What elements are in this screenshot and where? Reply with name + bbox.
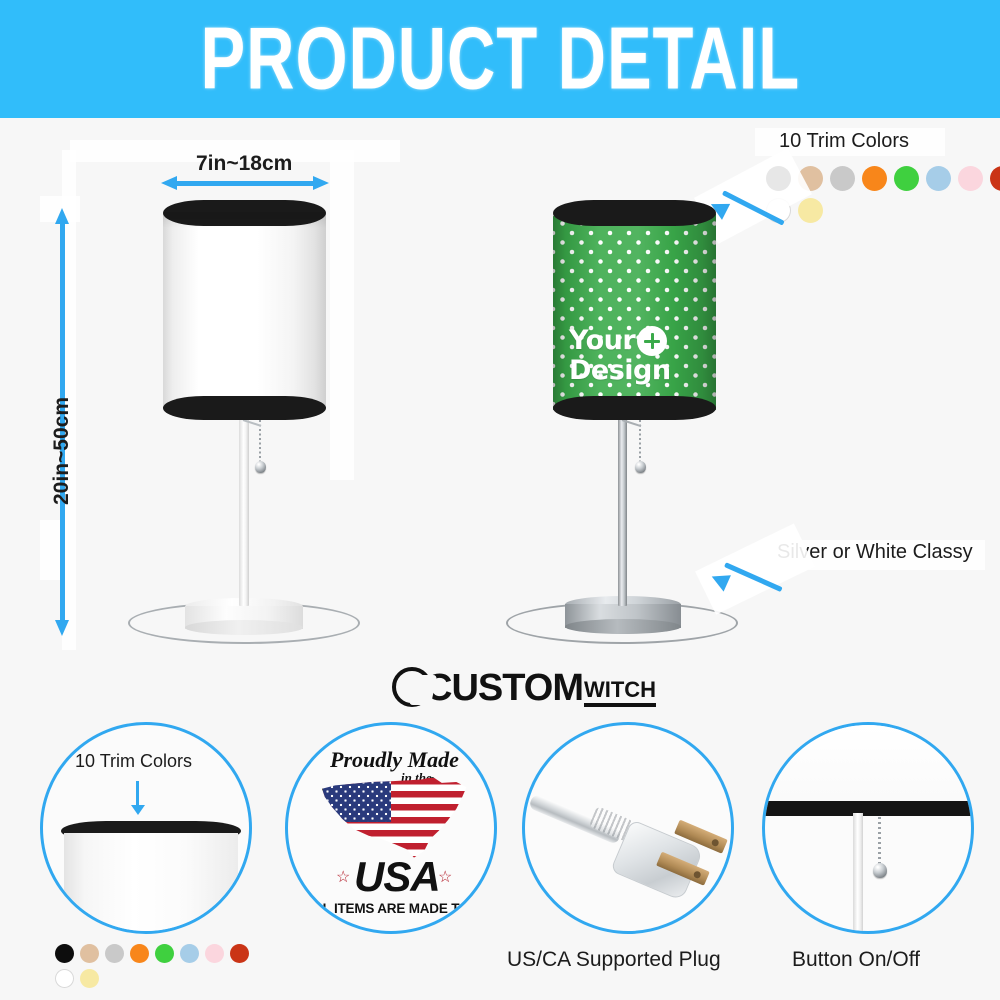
logo-crescent-c-icon: [392, 667, 432, 707]
trim-color-swatch-group-top: [766, 166, 1000, 223]
height-dimension-label: 20in~50cm: [50, 397, 74, 505]
brand-logo: CUSTOM WITCH: [392, 667, 656, 707]
trim-color-swatch-pink[interactable]: [958, 166, 983, 191]
trim-color-swatch-red[interactable]: [230, 944, 249, 963]
base-finish-arrow-line: [724, 562, 783, 592]
lamp-stem-white: [239, 418, 249, 606]
shade-inner-shadow: [163, 212, 326, 228]
trim-color-swatch-green[interactable]: [894, 166, 919, 191]
usa-badge-subtitle: ALL ITEMS ARE MADE TO ORDER!: [305, 901, 497, 916]
trim-color-swatch-gray[interactable]: [830, 166, 855, 191]
logo-word-witch: WITCH: [584, 678, 656, 702]
trim-color-swatch-yellow[interactable]: [798, 198, 823, 223]
design-placeholder-text: Your Design: [569, 326, 671, 386]
width-arrow-line: [175, 181, 315, 186]
feature-circle-made-in-usa: Proudly Made in the ☆ USA ☆ ALL ITEMS AR…: [285, 722, 497, 934]
shade-trim-bottom: [163, 396, 326, 420]
page-header-banner: PRODUCT DETAIL: [0, 0, 1000, 118]
feature-circle-trim-colors: 10 Trim Colors: [40, 722, 252, 934]
lampshade-custom: Your Design: [553, 200, 716, 422]
plus-circle-icon: [637, 326, 667, 356]
bg-wash: [330, 150, 354, 480]
plug-prong-hole: [711, 838, 720, 847]
trim-colors-circle-caption: 10 Trim Colors: [75, 751, 192, 772]
chain-ball: [255, 461, 266, 473]
page-title: PRODUCT DETAIL: [200, 9, 800, 109]
trim-colors-heading: 10 Trim Colors: [779, 130, 909, 153]
trim-color-swatch-red[interactable]: [990, 166, 1000, 191]
usa-star-left: ☆: [336, 867, 350, 887]
feature-circle-plug: [522, 722, 734, 934]
height-arrowhead-top: [55, 208, 69, 224]
usa-star-right: ☆: [438, 867, 452, 887]
design-line-2: Design: [569, 355, 671, 386]
trim-color-swatch-light-blue[interactable]: [926, 166, 951, 191]
trim-color-swatch-black[interactable]: [55, 944, 74, 963]
trim-color-swatch-group-bottom: [55, 944, 255, 988]
logo-underline: [584, 703, 656, 707]
shade-trim-top: [553, 200, 716, 226]
product-detail-page: PRODUCT DETAIL 10 Trim Colors 7in~18cm 2…: [0, 0, 1000, 1000]
shade-body: [163, 214, 326, 410]
lampshade-white: [163, 200, 326, 422]
chain-ball: [873, 863, 887, 878]
trim-color-swatch-yellow[interactable]: [80, 969, 99, 988]
trim-color-swatch-orange[interactable]: [130, 944, 149, 963]
usa-flag-canton: [323, 778, 391, 822]
shade-body-closeup: [765, 725, 974, 801]
logo-word-witch-wrap: WITCH: [584, 678, 656, 707]
design-line-1: Your: [569, 325, 635, 356]
usa-badge-word: USA: [354, 853, 440, 901]
usa-badge-line1: Proudly Made: [330, 747, 459, 773]
trim-color-swatch-tan[interactable]: [798, 166, 823, 191]
base-finish-label: Silver or White Classy: [777, 541, 973, 564]
bg-wash: [695, 523, 815, 614]
base-finish-arrowhead: [708, 568, 731, 591]
chain-line: [878, 817, 881, 865]
trim-color-swatch-orange[interactable]: [862, 166, 887, 191]
lamp-stem-silver: [618, 418, 627, 606]
trim-color-swatch-gray[interactable]: [105, 944, 124, 963]
height-arrowhead-bottom: [55, 620, 69, 636]
trim-color-swatch-green[interactable]: [155, 944, 174, 963]
trim-colors-arrowhead: [131, 805, 145, 815]
shade-body: Your Design: [553, 214, 716, 410]
trim-color-swatch-light-blue[interactable]: [180, 944, 199, 963]
usa-flag-map-icon: [322, 777, 468, 861]
base-bottom: [565, 619, 681, 634]
width-dimension-label: 7in~18cm: [196, 152, 292, 176]
logo-word-custom: CUSTOM: [425, 669, 583, 707]
plug-feature-label: US/CA Supported Plug: [507, 948, 721, 972]
trim-color-swatch-tan[interactable]: [80, 944, 99, 963]
trim-color-swatch-black[interactable]: [766, 166, 791, 191]
plug-prong-hole: [693, 870, 702, 879]
width-arrowhead-right: [313, 176, 329, 190]
trim-color-swatch-pink[interactable]: [205, 944, 224, 963]
lamp-stem-closeup: [853, 813, 863, 934]
chain-ball: [635, 461, 646, 473]
trim-color-swatch-white[interactable]: [55, 969, 74, 988]
feature-circle-switch: [762, 722, 974, 934]
base-bottom: [185, 620, 303, 635]
width-arrowhead-left: [161, 176, 177, 190]
shade-body-closeup: [64, 833, 238, 934]
trim-colors-arrow-line: [136, 781, 139, 807]
switch-feature-label: Button On/Off: [792, 948, 920, 972]
shade-trim-closeup: [765, 801, 974, 816]
shade-trim-bottom: [553, 396, 716, 420]
